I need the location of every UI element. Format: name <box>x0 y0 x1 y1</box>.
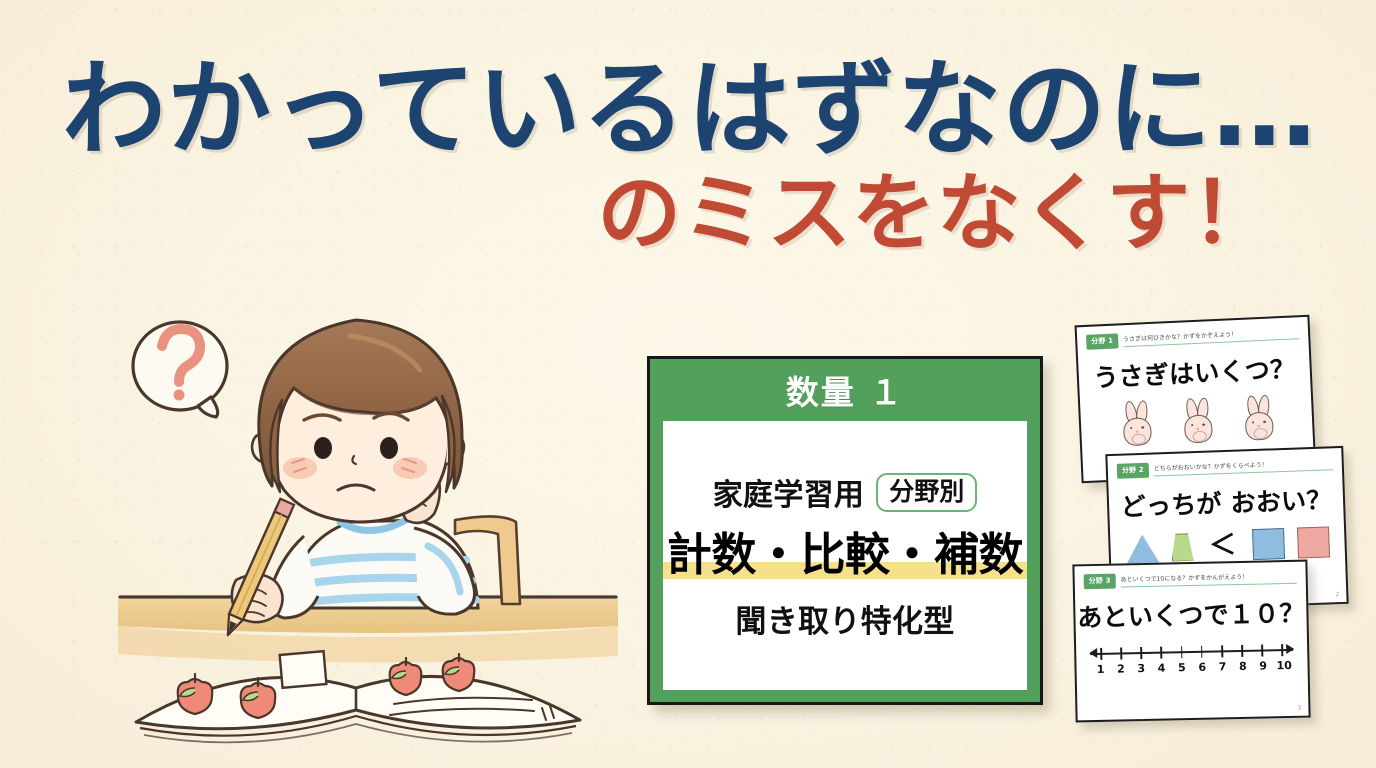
arrow-left-icon <box>1089 648 1097 658</box>
worksheet-1-question: うさぎはいくつ？ <box>1078 349 1310 395</box>
number-line-tick <box>1281 644 1283 656</box>
worksheet-1-header: 分野 1 うさぎは何びきかな？かずをかぞえよう！ <box>1077 317 1309 350</box>
product-card-row-usage: 家庭学習用 分野別 <box>713 470 978 514</box>
rabbit-icon <box>1239 394 1275 439</box>
shape-comparison-group: ＜ <box>1110 526 1345 565</box>
worksheet-1-tag: 分野 1 <box>1086 333 1119 349</box>
headline: わかっているはずなのに… のミスをなくす！ <box>0 54 1340 260</box>
number-line-label: 4 <box>1154 661 1168 674</box>
product-subtitle: 聞き取り特化型 <box>735 596 954 641</box>
headline-line-1: わかっているはずなのに… <box>0 54 1340 164</box>
rabbit-icon <box>1118 400 1154 445</box>
worksheet-3-header: 分野 3 あといくつで10になる？かずをかんがえよう！ <box>1074 562 1305 590</box>
trapezoid-shape-icon <box>1171 533 1194 562</box>
number-line-label: 6 <box>1195 661 1209 674</box>
number-line-labels: 12345678910 <box>1093 659 1290 676</box>
number-line-tick <box>1100 648 1102 660</box>
number-line-label: 1 <box>1093 663 1107 676</box>
number-line-label: 5 <box>1175 661 1189 674</box>
product-card: 数量 １ 家庭学習用 分野別 計数・比較・補数 聞き取り特化型 <box>647 356 1043 705</box>
number-line-label: 8 <box>1236 660 1250 673</box>
worksheet-3-page-number: 3 <box>1298 705 1302 712</box>
number-line-tick <box>1221 645 1223 657</box>
number-line-label: 2 <box>1114 662 1128 675</box>
square-blue-shape-icon <box>1252 528 1285 560</box>
triangle-shape-icon <box>1126 534 1159 563</box>
number-line-tick <box>1120 647 1122 659</box>
worksheet-2-header: 分野 2 どちらがおおいかな？かずをくらべよう！ <box>1107 448 1342 479</box>
number-line-label: 10 <box>1276 659 1290 672</box>
number-line-tick <box>1160 647 1162 659</box>
product-card-body: 家庭学習用 分野別 計数・比較・補数 聞き取り特化型 <box>663 421 1027 690</box>
home-study-label: 家庭学習用 <box>713 470 865 514</box>
worksheet-1-instruction: うさぎは何びきかな？かずをかぞえよう！ <box>1123 326 1300 347</box>
headline-line-2: のミスをなくす！ <box>0 166 1340 260</box>
girl-thinking-illustration <box>118 296 618 748</box>
product-main-topic: 計数・比較・補数 <box>667 530 1023 580</box>
number-line-tick <box>1181 646 1183 658</box>
worksheet-2-page-number: 2 <box>1335 591 1339 598</box>
worksheet-2-question: どっちが おおい？ <box>1109 480 1344 524</box>
number-line-tick <box>1261 645 1263 657</box>
worksheet-3-instruction: あといくつで10になる？かずをかんがえよう！ <box>1120 571 1296 588</box>
number-line-label: 7 <box>1215 660 1229 673</box>
rabbit-group <box>1080 393 1313 447</box>
number-line-tick <box>1201 646 1203 658</box>
rabbit-icon <box>1178 397 1214 442</box>
number-line-label: 3 <box>1134 662 1148 675</box>
product-card-main-wrap: 計数・比較・補数 <box>663 530 1027 580</box>
worksheet-3-tag: 分野 3 <box>1084 574 1116 590</box>
worksheet-3-question: あといくつで１０？ <box>1075 594 1307 635</box>
worksheet-2-tag: 分野 2 <box>1117 463 1149 479</box>
comparison-symbol: ＜ <box>1209 532 1237 560</box>
number-line-label: 9 <box>1256 659 1270 672</box>
product-card-title: 数量 １ <box>663 369 1027 421</box>
category-badge: 分野別 <box>876 473 977 512</box>
number-line-tick <box>1140 647 1142 659</box>
arrow-right-icon <box>1286 644 1294 654</box>
square-red-shape-icon <box>1296 526 1329 558</box>
number-line: 12345678910 <box>1090 643 1294 681</box>
worksheet-card-3[interactable]: 分野 3 あといくつで10になる？かずをかんがえよう！ あといくつで１０？ 12… <box>1072 560 1310 723</box>
slide-canvas: わかっているはずなのに… のミスをなくす！ <box>0 0 1376 768</box>
number-line-ticks <box>1100 644 1283 660</box>
number-line-tick <box>1241 645 1243 657</box>
worksheet-2-instruction: どちらがおおいかな？かずをくらべよう！ <box>1154 457 1333 476</box>
